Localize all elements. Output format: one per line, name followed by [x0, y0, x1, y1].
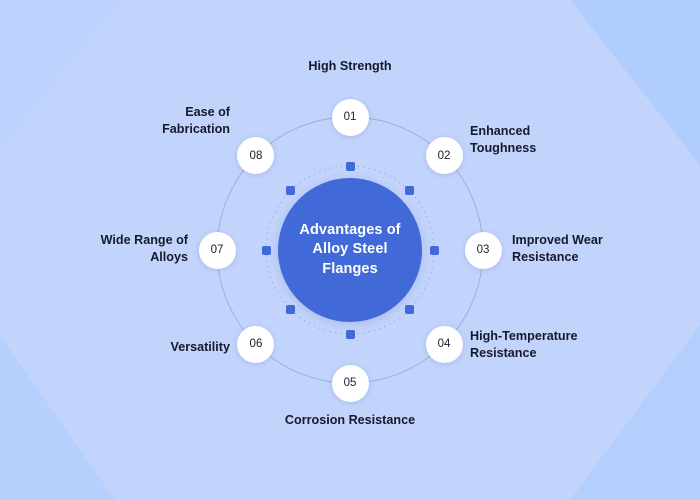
node-label-07: Wide Range of Alloys [28, 232, 188, 265]
number-badge-06[interactable]: 06 [237, 326, 274, 363]
badge-number: 06 [250, 338, 263, 350]
inner-dot [286, 186, 295, 195]
number-badge-02[interactable]: 02 [426, 137, 463, 174]
node-label-02: Enhanced Toughness [470, 123, 630, 156]
inner-dot [262, 246, 271, 255]
inner-dot [405, 305, 414, 314]
inner-dot [286, 305, 295, 314]
number-badge-04[interactable]: 04 [426, 326, 463, 363]
number-badge-03[interactable]: 03 [465, 232, 502, 269]
infographic-canvas: Advantages of Alloy Steel Flanges 010203… [0, 0, 700, 500]
badge-number: 07 [211, 244, 224, 256]
badge-number: 03 [477, 244, 490, 256]
number-badge-08[interactable]: 08 [237, 137, 274, 174]
node-label-06: Versatility [70, 339, 230, 356]
inner-dot [405, 186, 414, 195]
number-badge-05[interactable]: 05 [332, 365, 369, 402]
inner-dot [346, 162, 355, 171]
node-label-08: Ease of Fabrication [70, 104, 230, 137]
badge-number: 02 [438, 150, 451, 162]
hub-circle: Advantages of Alloy Steel Flanges [278, 178, 422, 322]
corner-accent-bottom-left [0, 335, 115, 500]
badge-number: 04 [438, 338, 451, 350]
badge-number: 08 [250, 150, 263, 162]
inner-dot [346, 330, 355, 339]
number-badge-07[interactable]: 07 [199, 232, 236, 269]
inner-dot [430, 246, 439, 255]
number-badge-01[interactable]: 01 [332, 99, 369, 136]
node-label-03: Improved Wear Resistance [512, 232, 682, 265]
node-label-01: High Strength [250, 58, 450, 75]
badge-number: 05 [344, 377, 357, 389]
hub-title: Advantages of Alloy Steel Flanges [290, 221, 410, 280]
node-label-05: Corrosion Resistance [220, 412, 480, 429]
node-label-04: High-Temperature Resistance [470, 328, 640, 361]
badge-number: 01 [344, 111, 357, 123]
